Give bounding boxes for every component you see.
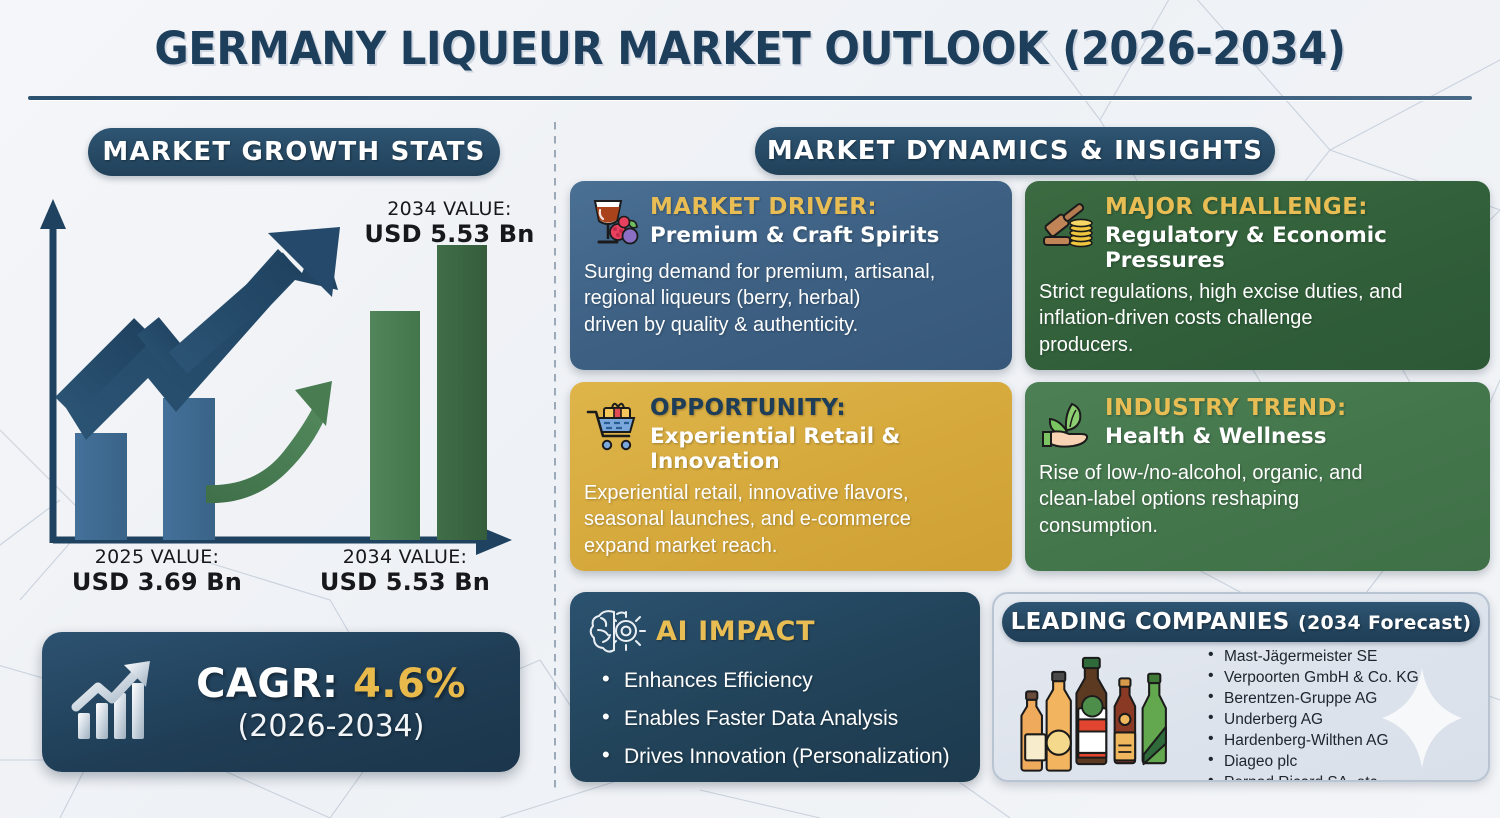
cocktail-berries-icon	[584, 195, 640, 253]
liquor-bottles-icon	[1002, 646, 1178, 776]
card-major-challenge-head: MAJOR CHALLENGE: Regulatory & Economic P…	[1039, 193, 1474, 273]
card-opportunity-head: OPPORTUNITY: Experiential Retail & Innov…	[584, 394, 996, 474]
card-industry-trend-kicker: INDUSTRY TREND:	[1105, 396, 1474, 422]
card-market-driver-body-line-3: driven by quality & authenticity.	[584, 312, 996, 338]
section-header-market-growth-label: MARKET GROWTH STATS	[102, 137, 485, 167]
card-industry-trend-head: INDUSTRY TREND: Health & Wellness	[1039, 394, 1474, 454]
company-item-7: Pernod Ricard SA, etc.	[1208, 775, 1480, 782]
hand-plant-icon	[1039, 396, 1095, 454]
card-market-driver-body-line-1: Surging demand for premium, artisanal,	[584, 259, 996, 285]
gavel-coins-icon	[1039, 195, 1095, 253]
chart-axis-label-2025: 2025 VALUE: USD 3.69 Bn	[42, 546, 272, 597]
secondary-growth-arrow-icon	[206, 381, 332, 503]
card-market-driver-titles: MARKET DRIVER: Premium & Craft Spirits	[650, 193, 996, 248]
growth-chart-icon	[68, 659, 160, 745]
card-opportunity-body-line-2: seasonal launches, and e-commerce	[584, 506, 996, 532]
card-opportunity: OPPORTUNITY: Experiential Retail & Innov…	[570, 382, 1012, 571]
card-industry-trend-body: Rise of low-/no-alcohol, organic, and cl…	[1039, 460, 1474, 539]
chart-axis-label-2025-title: 2025 VALUE:	[42, 546, 272, 568]
leading-companies-subtitle: (2034 Forecast)	[1298, 612, 1471, 634]
card-industry-trend-body-line-3: consumption.	[1039, 513, 1474, 539]
title-underline-rule	[28, 96, 1472, 100]
chart-axis-label-2034-title: 2034 VALUE:	[280, 546, 530, 568]
company-item-6: Diageo plc	[1208, 754, 1480, 770]
card-major-challenge-body-line-2: inflation-driven costs challenge	[1039, 305, 1474, 331]
card-major-challenge-body: Strict regulations, high excise duties, …	[1039, 279, 1474, 358]
ai-impact-bullet-3: Drives Innovation (Personalization)	[602, 746, 964, 767]
card-ai-impact: AI IMPACT Enhances Efficiency Enables Fa…	[570, 592, 980, 782]
page-title: GERMANY LIQUEUR MARKET OUTLOOK (2026-203…	[53, 22, 1448, 75]
chart-axis-label-2025-value: USD 3.69 Bn	[42, 568, 272, 596]
card-leading-companies: LEADING COMPANIES (2034 Forecast)	[992, 592, 1490, 782]
card-industry-trend-body-line-2: clean-label options reshaping	[1039, 486, 1474, 512]
ai-impact-bullet-2: Enables Faster Data Analysis	[602, 708, 964, 729]
chart-annotation-2034: 2034 VALUE: USD 5.53 Bn	[352, 198, 547, 249]
card-ai-impact-title: AI IMPACT	[656, 616, 815, 647]
ai-impact-bullet-list: Enhances Efficiency Enables Faster Data …	[588, 670, 964, 767]
card-opportunity-subtitle: Experiential Retail & Innovation	[650, 424, 996, 474]
company-item-1: Mast-Jägermeister SE	[1208, 649, 1480, 665]
card-opportunity-titles: OPPORTUNITY: Experiential Retail & Innov…	[650, 394, 996, 474]
cagr-badge: CAGR: 4.6% (2026-2034)	[42, 632, 520, 772]
shopping-cart-gift-icon	[584, 396, 640, 454]
leading-companies-list: Mast-Jägermeister SE Verpoorten GmbH & C…	[1178, 646, 1480, 776]
section-header-market-dynamics-label: MARKET DYNAMICS & INSIGHTS	[767, 136, 1263, 166]
card-market-driver-body-line-2: regional liqueurs (berry, herbal)	[584, 285, 996, 311]
card-industry-trend: INDUSTRY TREND: Health & Wellness Rise o…	[1025, 382, 1490, 571]
card-major-challenge-subtitle: Regulatory & Economic Pressures	[1105, 223, 1474, 273]
card-opportunity-body-line-1: Experiential retail, innovative flavors,	[584, 480, 996, 506]
card-industry-trend-subtitle: Health & Wellness	[1105, 424, 1474, 449]
card-ai-impact-head: AI IMPACT	[588, 604, 964, 658]
ai-impact-bullet-1: Enhances Efficiency	[602, 670, 964, 691]
section-header-market-dynamics: MARKET DYNAMICS & INSIGHTS	[755, 127, 1275, 175]
company-item-2: Verpoorten GmbH & Co. KG	[1208, 670, 1480, 686]
company-item-4: Underberg AG	[1208, 712, 1480, 728]
leading-companies-body: Mast-Jägermeister SE Verpoorten GmbH & C…	[1002, 646, 1480, 776]
chart-annotation-2034-value: USD 5.53 Bn	[352, 220, 547, 248]
card-opportunity-body: Experiential retail, innovative flavors,…	[584, 480, 996, 559]
chart-annotation-2034-label: 2034 VALUE:	[352, 198, 547, 220]
card-major-challenge: MAJOR CHALLENGE: Regulatory & Economic P…	[1025, 181, 1490, 370]
bar-2034a	[370, 311, 420, 540]
header: GERMANY LIQUEUR MARKET OUTLOOK (2026-203…	[0, 22, 1500, 75]
card-opportunity-body-line-3: expand market reach.	[584, 533, 996, 559]
card-major-challenge-body-line-1: Strict regulations, high excise duties, …	[1039, 279, 1474, 305]
bar-2025b	[163, 398, 215, 540]
card-major-challenge-titles: MAJOR CHALLENGE: Regulatory & Economic P…	[1105, 193, 1474, 273]
card-market-driver-body: Surging demand for premium, artisanal, r…	[584, 259, 996, 338]
section-header-market-growth: MARKET GROWTH STATS	[88, 128, 500, 176]
card-market-driver-kicker: MARKET DRIVER:	[650, 195, 996, 221]
chart-axis-label-2034: 2034 VALUE: USD 5.53 Bn	[280, 546, 530, 597]
chart-axis-label-2034-value: USD 5.53 Bn	[280, 568, 530, 596]
bar-2034b	[437, 245, 487, 540]
cagr-text-block: CAGR: 4.6% (2026-2034)	[160, 661, 510, 744]
card-market-driver: MARKET DRIVER: Premium & Craft Spirits S…	[570, 181, 1012, 370]
card-major-challenge-kicker: MAJOR CHALLENGE:	[1105, 195, 1474, 221]
brain-gear-icon	[588, 604, 646, 658]
card-opportunity-kicker: OPPORTUNITY:	[650, 396, 996, 422]
vertical-dashed-divider	[554, 122, 556, 790]
cagr-value: 4.6%	[353, 661, 466, 707]
infographic-canvas: GERMANY LIQUEUR MARKET OUTLOOK (2026-203…	[0, 0, 1500, 818]
leading-companies-title: LEADING COMPANIES	[1011, 609, 1290, 635]
company-item-3: Berentzen-Gruppe AG	[1208, 691, 1480, 707]
bar-2025	[75, 433, 127, 540]
cagr-prefix: CAGR:	[196, 661, 338, 707]
card-market-driver-subtitle: Premium & Craft Spirits	[650, 223, 996, 248]
cagr-headline: CAGR: 4.6%	[160, 661, 502, 707]
leading-companies-header-pill: LEADING COMPANIES (2034 Forecast)	[1002, 602, 1480, 642]
card-market-driver-head: MARKET DRIVER: Premium & Craft Spirits	[584, 193, 996, 253]
cagr-period: (2026-2034)	[160, 709, 502, 744]
card-industry-trend-body-line-1: Rise of low-/no-alcohol, organic, and	[1039, 460, 1474, 486]
leading-companies-header-text: LEADING COMPANIES (2034 Forecast)	[1011, 609, 1472, 635]
card-major-challenge-body-line-3: producers.	[1039, 332, 1474, 358]
card-industry-trend-titles: INDUSTRY TREND: Health & Wellness	[1105, 394, 1474, 449]
company-item-5: Hardenberg-Wilthen AG	[1208, 733, 1480, 749]
